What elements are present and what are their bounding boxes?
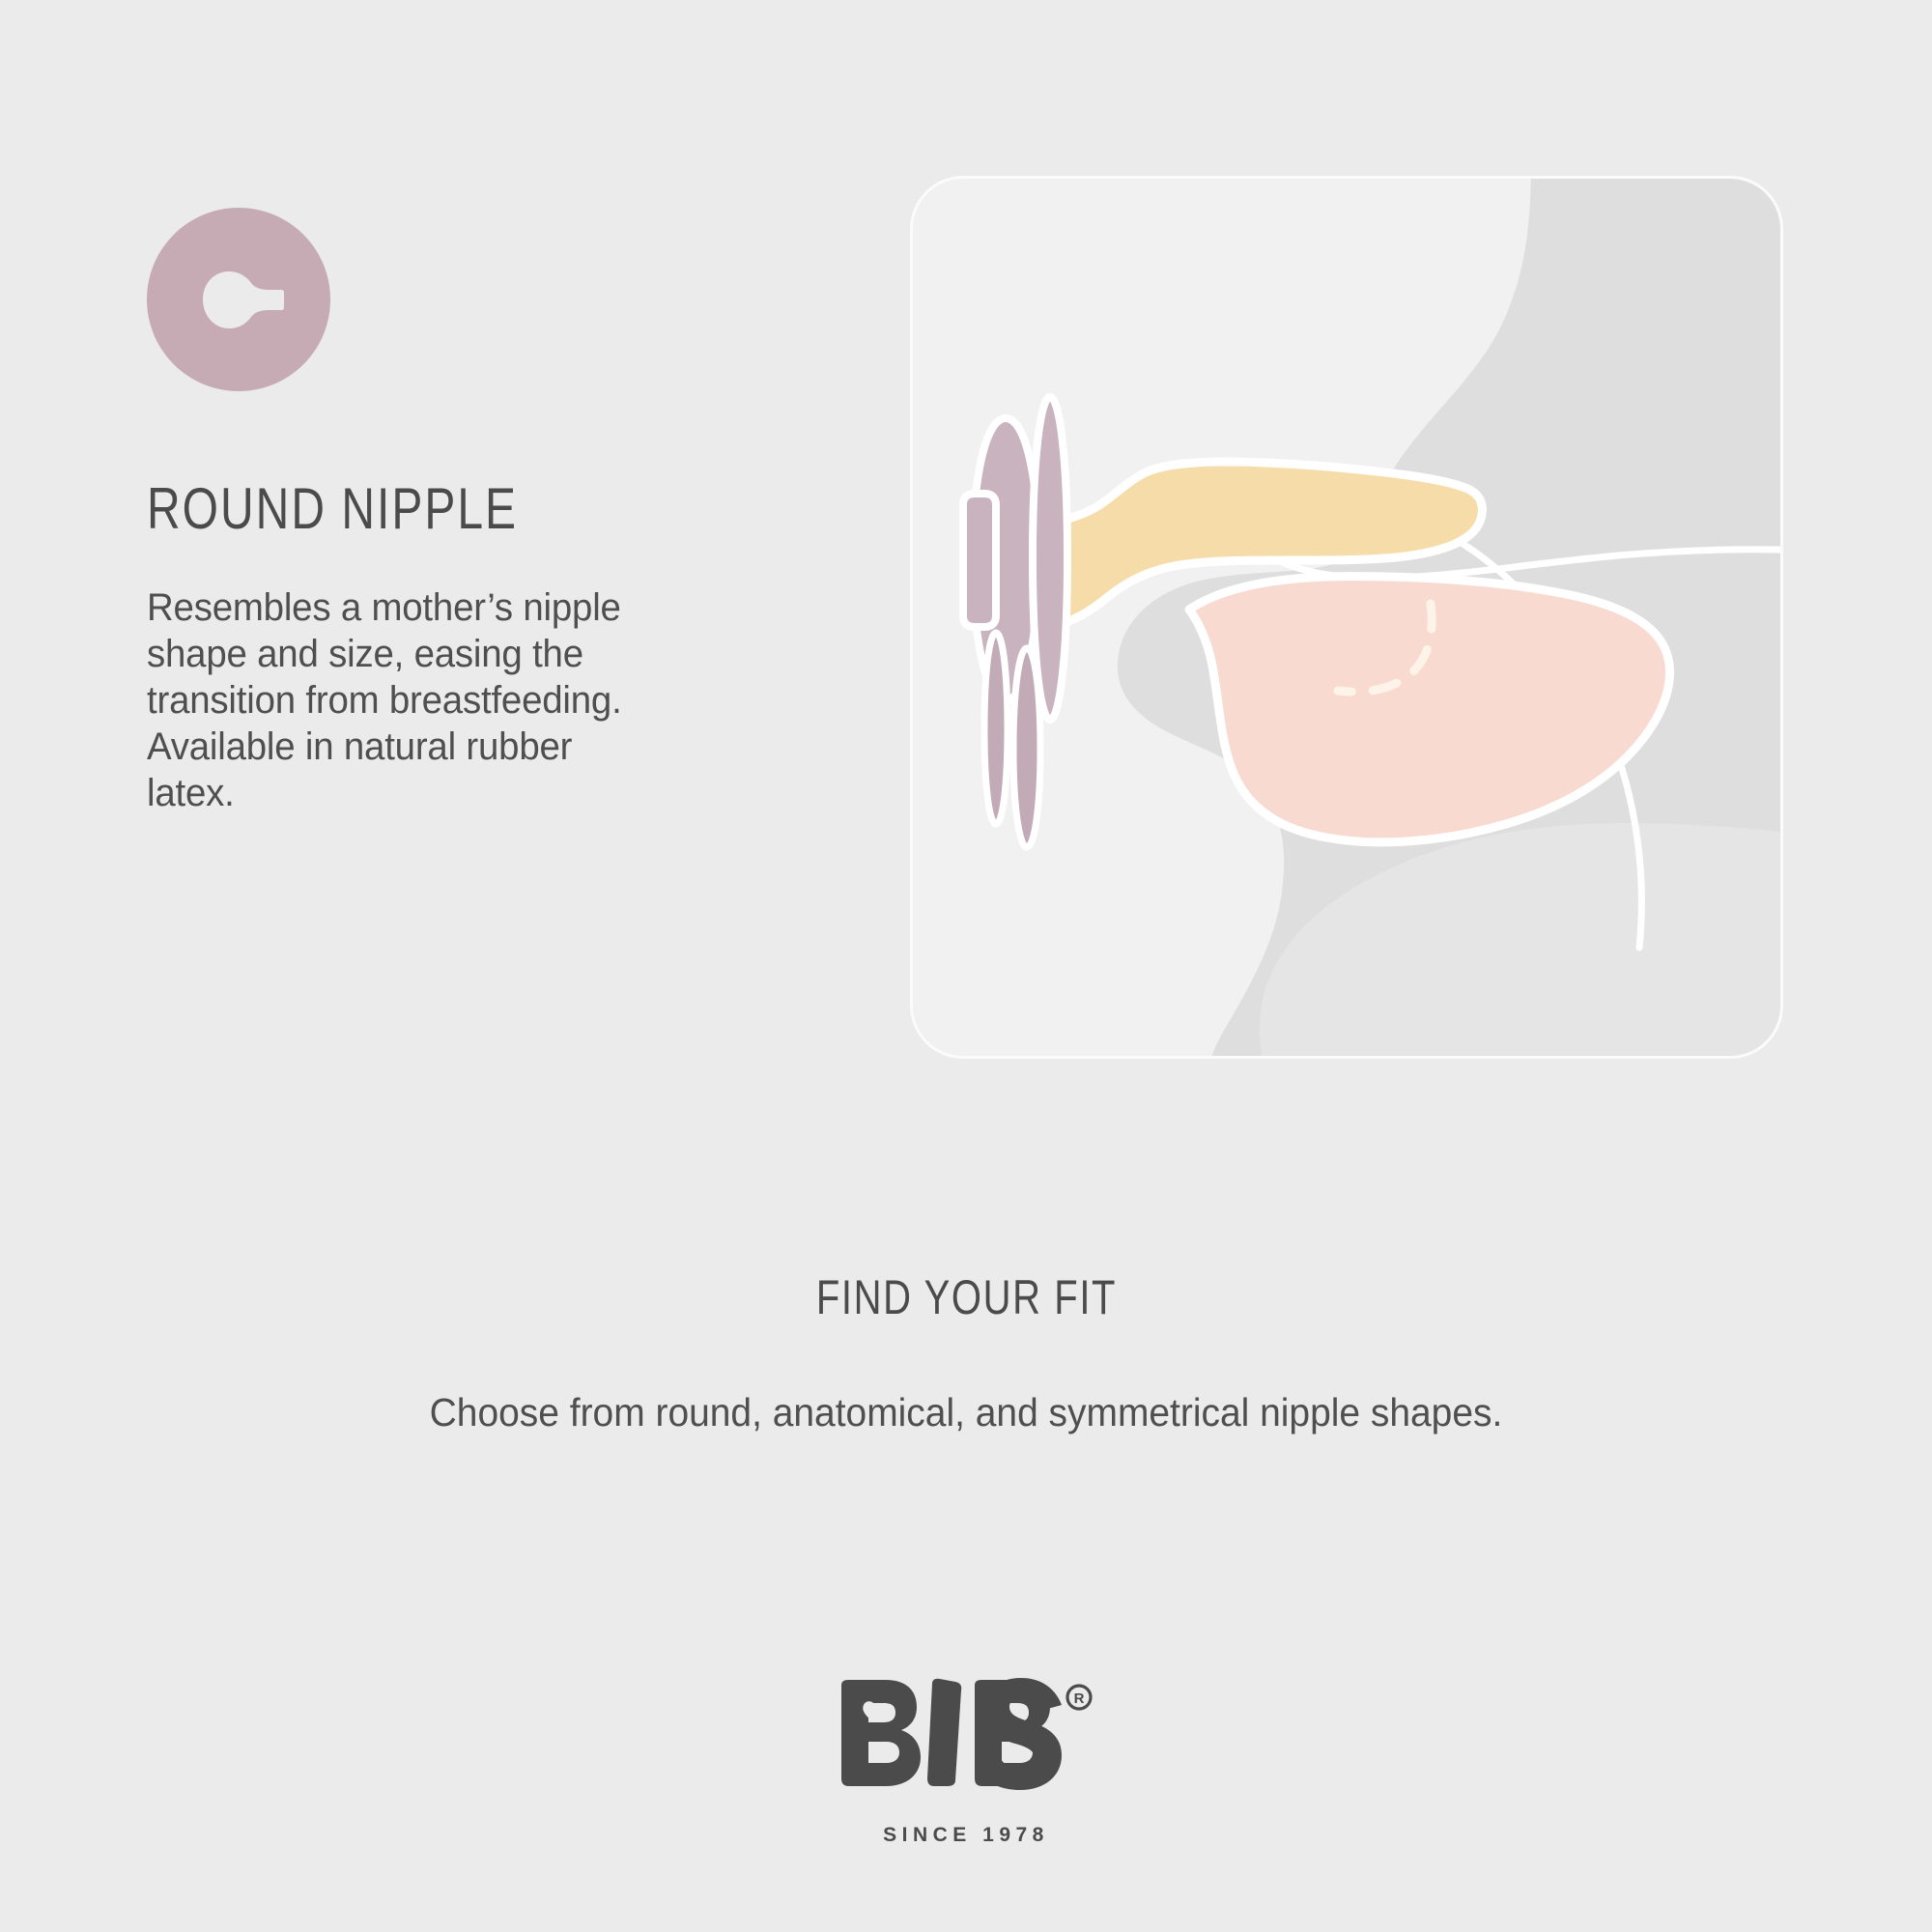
round-nipple-panel: ROUND NIPPLE Resembles a mother’s nipple… xyxy=(147,208,823,816)
page-title: ROUND NIPPLE xyxy=(147,480,688,538)
bibs-logo: R xyxy=(836,1676,1096,1792)
pacifier-shield-front xyxy=(1033,397,1067,720)
panel-description: Resembles a mother’s nipple shape and si… xyxy=(147,584,667,816)
round-nipple-shape-icon xyxy=(147,208,330,391)
svg-text:R: R xyxy=(1074,1690,1085,1707)
find-your-fit-section: FIND YOUR FIT Choose from round, anatomi… xyxy=(0,1273,1932,1436)
pacifier-stem-back xyxy=(984,633,1008,824)
brand-tagline: SINCE 1978 xyxy=(0,1824,1932,1847)
find-your-fit-subtitle: Choose from round, anatomical, and symme… xyxy=(48,1389,1884,1436)
illustration-card xyxy=(913,179,1780,1056)
poster-canvas: ROUND NIPPLE Resembles a mother’s nipple… xyxy=(0,0,1932,1932)
find-your-fit-heading: FIND YOUR FIT xyxy=(815,1273,1116,1321)
brand-footer: R SINCE 1978 xyxy=(0,1676,1932,1847)
pacifier-backplate xyxy=(963,494,996,627)
